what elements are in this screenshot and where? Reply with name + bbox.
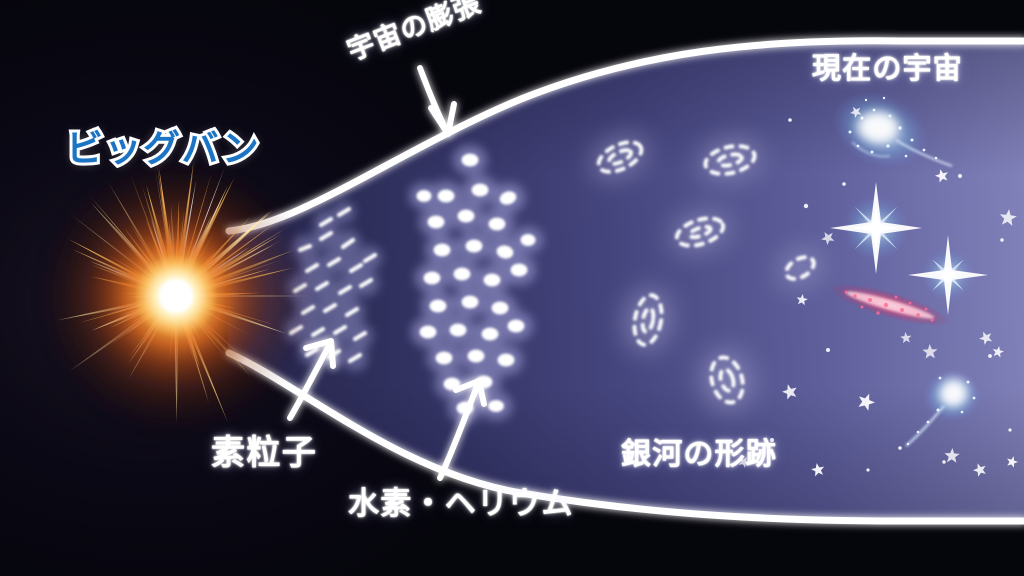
arrow-particles [290, 341, 333, 418]
arrow-expansion [420, 68, 454, 134]
diagram-canvas: ビッグバン 宇宙の膨張 素粒子 水素・ヘリウム 銀河の形跡 現在の宇宙 [0, 0, 1024, 576]
arrow-hydrogen [440, 381, 484, 478]
label-present-universe: 現在の宇宙 [812, 54, 963, 83]
label-hydrogen-helium: 水素・ヘリウム [348, 489, 574, 520]
label-big-bang: ビッグバン [66, 130, 260, 167]
label-galaxy-traces: 銀河の形跡 [621, 440, 777, 470]
label-elementary-particles: 素粒子 [211, 436, 317, 470]
